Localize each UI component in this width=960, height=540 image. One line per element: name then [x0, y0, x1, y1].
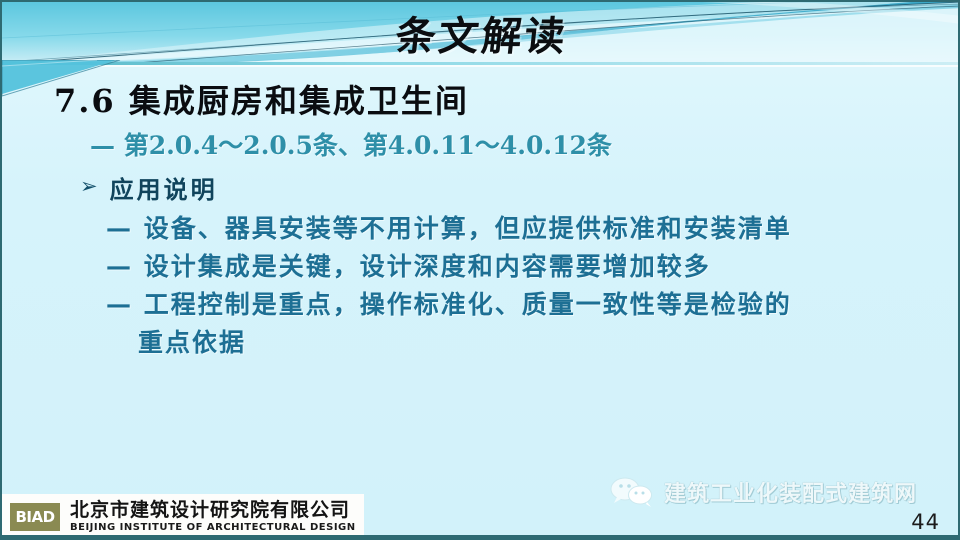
watermark-label: 建筑工业化装配式建筑网 — [664, 476, 917, 508]
footer-organization-logo: BIAD 北京市建筑设计研究院有限公司 BEIJING INSTITUTE OF… — [2, 494, 364, 540]
bullet-list: — 设备、器具安装等不用计算，但应提供标准和安装清单 — 设计集成是关键，设计深… — [106, 210, 936, 362]
wechat-icon — [610, 476, 654, 508]
slide-content: 7.6 集成厨房和集成卫生间 — 第2.0.4～2.0.5条、第4.0.11～4… — [2, 66, 960, 466]
organization-name-en: BEIJING INSTITUTE OF ARCHITECTURAL DESIG… — [70, 521, 356, 534]
subsection-header: ➢ 应用说明 — [80, 170, 218, 205]
watermark: 建筑工业化装配式建筑网 — [610, 476, 917, 508]
slide-header-banner: 条文解读 — [2, 2, 960, 64]
list-item: — 设备、器具安装等不用计算，但应提供标准和安装清单 — [106, 210, 936, 248]
organization-name-block: 北京市建筑设计研究院有限公司 BEIJING INSTITUTE OF ARCH… — [70, 500, 356, 534]
presentation-slide: 条文解读 7.6 集成厨房和集成卫生间 — 第2.0.4～2.0.5条、第4.0… — [0, 0, 960, 540]
list-item-continuation: 重点依据 — [106, 324, 936, 362]
slide-title: 条文解读 — [2, 4, 960, 62]
page-number: 44 — [911, 510, 940, 534]
list-item: — 设计集成是关键，设计深度和内容需要增加较多 — [106, 248, 936, 286]
section-heading: 7.6 集成厨房和集成卫生间 — [54, 76, 469, 122]
arrow-bullet-icon: ➢ — [80, 176, 98, 197]
biad-logo-text: BIAD — [15, 508, 54, 526]
slide-bottom-border — [2, 535, 960, 538]
biad-logo-icon: BIAD — [10, 503, 60, 531]
subsection-label: 应用说明 — [110, 170, 218, 205]
organization-name-cn: 北京市建筑设计研究院有限公司 — [70, 500, 356, 521]
section-subheading: — 第2.0.4～2.0.5条、第4.0.11～4.0.12条 — [90, 126, 612, 162]
list-item: — 工程控制是重点，操作标准化、质量一致性等是检验的 — [106, 286, 936, 324]
